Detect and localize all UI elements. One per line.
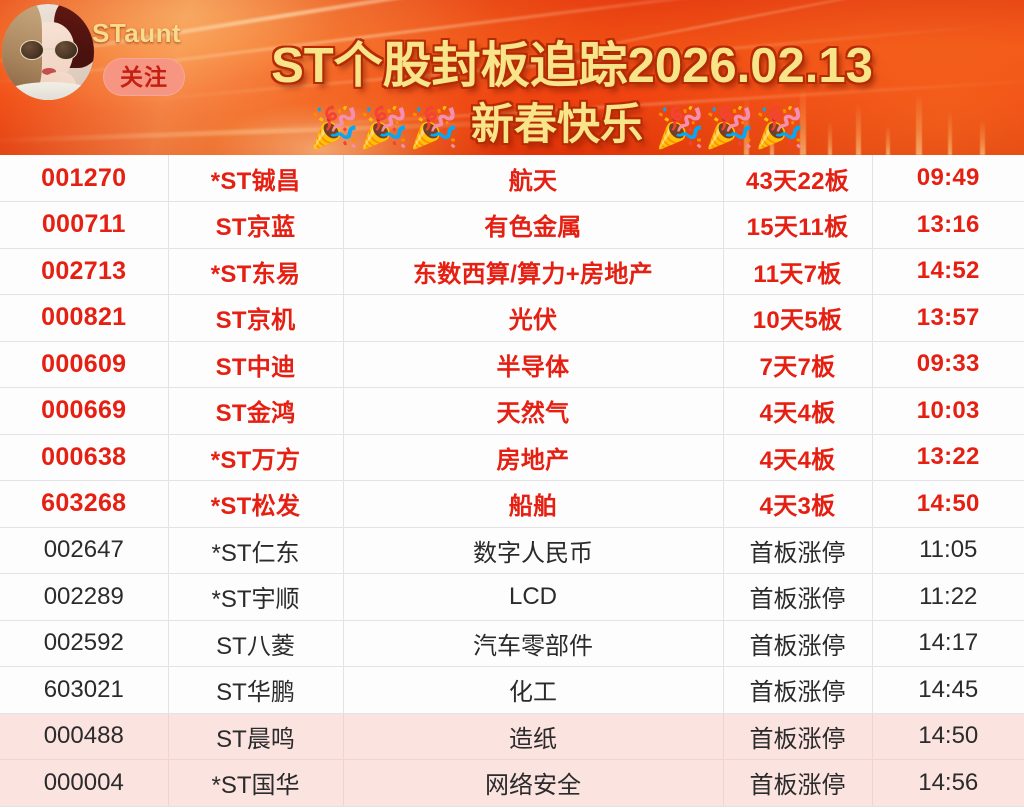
- table-row[interactable]: 603021ST华鹏化工首板涨停14:45: [0, 667, 1024, 714]
- stock-name: ST京机: [168, 295, 343, 342]
- stock-name: *ST万方: [168, 434, 343, 481]
- stock-code: 002713: [0, 248, 168, 295]
- stock-theme: 化工: [343, 667, 723, 714]
- stock-theme: 东数西算/算力+房地产: [343, 248, 723, 295]
- stock-theme: 有色金属: [343, 202, 723, 249]
- stock-name: ST华鹏: [168, 667, 343, 714]
- stock-limit-time: 14:50: [872, 713, 1024, 760]
- table-row[interactable]: 000821ST京机光伏10天5板13:57: [0, 295, 1024, 342]
- stock-theme: 半导体: [343, 341, 723, 388]
- stock-code: 000821: [0, 295, 168, 342]
- stock-theme: 网络安全: [343, 760, 723, 807]
- table-row[interactable]: 000638*ST万方房地产4天4板13:22: [0, 434, 1024, 481]
- table-row[interactable]: 000609ST中迪半导体7天7板09:33: [0, 341, 1024, 388]
- stock-theme: 航天: [343, 155, 723, 202]
- stock-code: 000609: [0, 341, 168, 388]
- stock-code: 000488: [0, 713, 168, 760]
- party-popper-icon: 🎉🎉🎉: [655, 106, 804, 150]
- stock-streak: 15天11板: [723, 202, 872, 249]
- table-row[interactable]: 000004*ST国华网络安全首板涨停14:56: [0, 760, 1024, 807]
- stock-streak: 11天7板: [723, 248, 872, 295]
- stock-limit-time: 09:49: [872, 155, 1024, 202]
- table-row[interactable]: 002713*ST东易东数西算/算力+房地产11天7板14:52: [0, 248, 1024, 295]
- stock-limit-time: 13:22: [872, 434, 1024, 481]
- stock-limit-time: 11:22: [872, 574, 1024, 621]
- table-row[interactable]: 000488ST晨鸣造纸首板涨停14:50: [0, 713, 1024, 760]
- header-banner: ST个股封板追踪2026.02.13 🎉🎉🎉 新春快乐 🎉🎉🎉: [0, 0, 1024, 155]
- username: STaunt: [92, 18, 181, 49]
- follow-button[interactable]: 关注: [103, 58, 185, 96]
- stock-name: ST金鸿: [168, 388, 343, 435]
- table-row[interactable]: 000711ST京蓝有色金属15天11板13:16: [0, 202, 1024, 249]
- stock-limit-time: 09:33: [872, 341, 1024, 388]
- stock-streak: 7天7板: [723, 341, 872, 388]
- stock-streak: 首板涨停: [723, 620, 872, 667]
- stock-streak: 首板涨停: [723, 713, 872, 760]
- stock-theme: 船舶: [343, 481, 723, 528]
- stock-code: 603021: [0, 667, 168, 714]
- stock-name: ST八菱: [168, 620, 343, 667]
- stock-limit-time: 14:56: [872, 760, 1024, 807]
- stock-limit-time: 13:16: [872, 202, 1024, 249]
- stock-name: *ST宇顺: [168, 574, 343, 621]
- stock-theme: LCD: [343, 574, 723, 621]
- stock-streak: 4天3板: [723, 481, 872, 528]
- table-row[interactable]: 002289*ST宇顺LCD首板涨停11:22: [0, 574, 1024, 621]
- table-row[interactable]: 000669ST金鸿天然气4天4板10:03: [0, 388, 1024, 435]
- table-row[interactable]: 603268*ST松发船舶4天3板14:50: [0, 481, 1024, 528]
- stock-name: *ST松发: [168, 481, 343, 528]
- stock-name: *ST铖昌: [168, 155, 343, 202]
- stock-table-body: 001270*ST铖昌航天43天22板09:49000711ST京蓝有色金属15…: [0, 155, 1024, 806]
- stock-name: ST中迪: [168, 341, 343, 388]
- table-row[interactable]: 001270*ST铖昌航天43天22板09:49: [0, 155, 1024, 202]
- table-row[interactable]: 002592ST八菱汽车零部件首板涨停14:17: [0, 620, 1024, 667]
- stock-streak: 首板涨停: [723, 574, 872, 621]
- stock-code: 603268: [0, 481, 168, 528]
- stock-theme: 光伏: [343, 295, 723, 342]
- avatar-photo: [2, 4, 94, 100]
- stock-limit-time: 10:03: [872, 388, 1024, 435]
- stock-streak: 首板涨停: [723, 527, 872, 574]
- stock-limit-time: 14:17: [872, 620, 1024, 667]
- stock-streak: 首板涨停: [723, 760, 872, 807]
- stock-code: 001270: [0, 155, 168, 202]
- stock-code: 000669: [0, 388, 168, 435]
- avatar[interactable]: [2, 4, 94, 100]
- party-popper-icon: 🎉🎉🎉: [310, 106, 459, 150]
- stock-name: *ST国华: [168, 760, 343, 807]
- stock-limit-time: 14:50: [872, 481, 1024, 528]
- stock-streak: 首板涨停: [723, 667, 872, 714]
- profile-block: STaunt 关注: [0, 0, 200, 108]
- stock-limit-time: 11:05: [872, 527, 1024, 574]
- stock-table: 001270*ST铖昌航天43天22板09:49000711ST京蓝有色金属15…: [0, 155, 1024, 807]
- sunglasses-icon: [20, 40, 78, 60]
- stock-streak: 4天4板: [723, 388, 872, 435]
- stock-code: 002647: [0, 527, 168, 574]
- stock-name: *ST东易: [168, 248, 343, 295]
- stock-name: *ST仁东: [168, 527, 343, 574]
- stock-tracker-page: ST个股封板追踪2026.02.13 🎉🎉🎉 新春快乐 🎉🎉🎉: [0, 0, 1024, 808]
- page-subtitle-text: 新春快乐: [471, 101, 643, 149]
- stock-code: 002289: [0, 574, 168, 621]
- stock-limit-time: 14:45: [872, 667, 1024, 714]
- stock-theme: 数字人民币: [343, 527, 723, 574]
- table-row[interactable]: 002647*ST仁东数字人民币首板涨停11:05: [0, 527, 1024, 574]
- stock-theme: 天然气: [343, 388, 723, 435]
- stock-streak: 43天22板: [723, 155, 872, 202]
- stock-code: 000004: [0, 760, 168, 807]
- stock-limit-time: 14:52: [872, 248, 1024, 295]
- stock-name: ST晨鸣: [168, 713, 343, 760]
- stock-limit-time: 13:57: [872, 295, 1024, 342]
- stock-theme: 汽车零部件: [343, 620, 723, 667]
- stock-code: 000638: [0, 434, 168, 481]
- stock-name: ST京蓝: [168, 202, 343, 249]
- stock-code: 002592: [0, 620, 168, 667]
- stock-streak: 4天4板: [723, 434, 872, 481]
- stock-streak: 10天5板: [723, 295, 872, 342]
- stock-code: 000711: [0, 202, 168, 249]
- stock-theme: 造纸: [343, 713, 723, 760]
- stock-theme: 房地产: [343, 434, 723, 481]
